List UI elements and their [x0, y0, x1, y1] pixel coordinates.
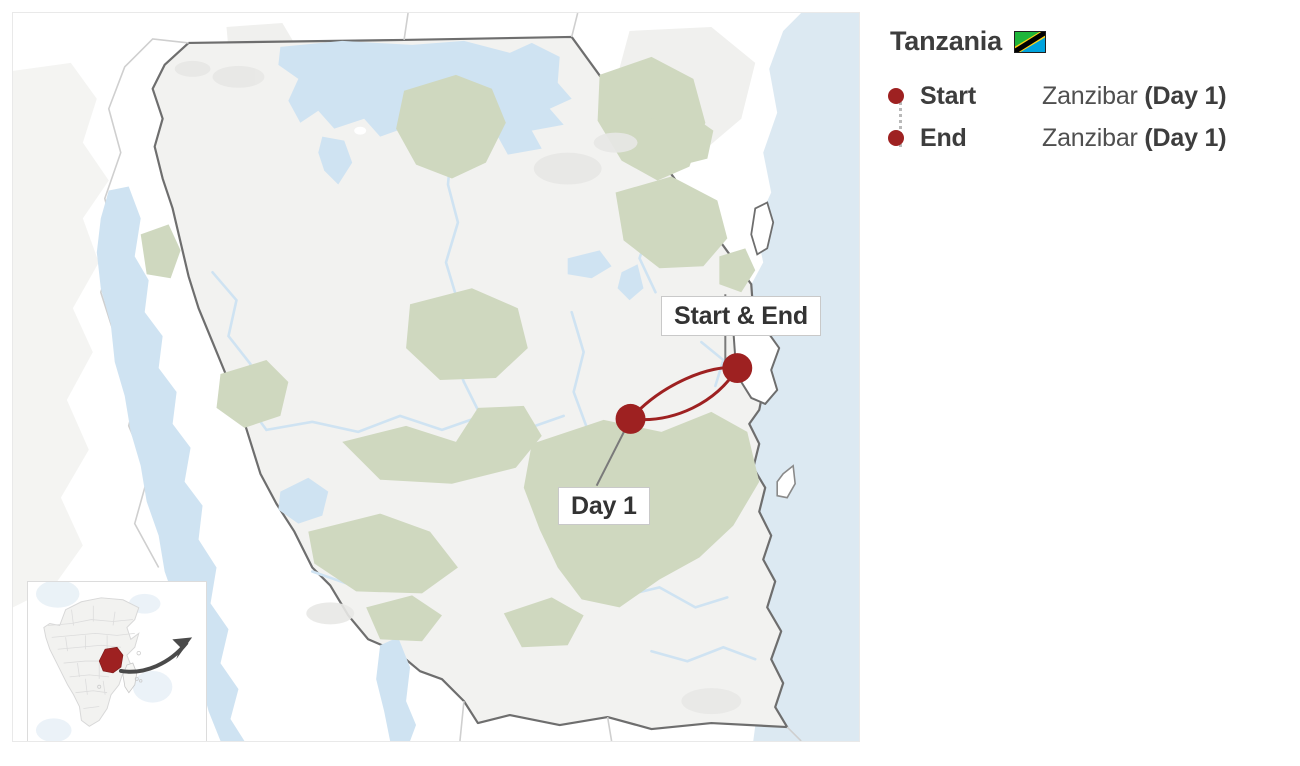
map-panel[interactable]: Start & End Day 1	[12, 12, 860, 742]
trip-map-page: Start & End Day 1	[0, 0, 1300, 766]
marker-day1	[616, 404, 646, 434]
legend-start-place: Zanzibar (Day 1)	[1042, 82, 1226, 111]
legend-start-day: (Day 1)	[1144, 82, 1226, 110]
lake-victoria-islet-2	[354, 127, 366, 135]
tanzania-flag-icon	[1014, 31, 1046, 53]
africa-locator-inset[interactable]	[27, 581, 207, 742]
map-label-day1[interactable]: Day 1	[558, 487, 650, 525]
legend-end-day: (Day 1)	[1144, 124, 1226, 152]
legend-start-dot-icon	[888, 88, 904, 104]
legend-end-place: Zanzibar (Day 1)	[1042, 124, 1226, 153]
legend-end-dot-icon	[888, 130, 904, 146]
legend-end-place-name: Zanzibar	[1042, 124, 1138, 152]
legend-row-end[interactable]: End Zanzibar (Day 1)	[888, 117, 1288, 159]
map-label-start-end[interactable]: Start & End	[661, 296, 821, 336]
legend-country-name: Tanzania	[890, 26, 1002, 57]
marker-zanzibar	[722, 353, 752, 383]
legend-title: Tanzania	[890, 26, 1288, 57]
legend-start-kind: Start	[920, 82, 1042, 111]
legend-rows: Start Zanzibar (Day 1) End Zanzibar (Day…	[888, 75, 1288, 159]
legend-row-start[interactable]: Start Zanzibar (Day 1)	[888, 75, 1288, 117]
africa-locator-svg	[28, 582, 206, 742]
legend-panel: Tanzania Start Zanzibar (Day 1)	[888, 26, 1288, 159]
legend-start-place-name: Zanzibar	[1042, 82, 1138, 110]
legend-end-kind: End	[920, 124, 1042, 153]
